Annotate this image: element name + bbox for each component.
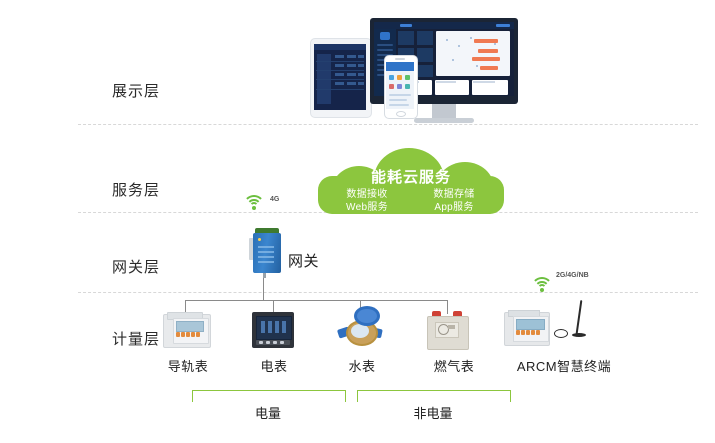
wifi-icon — [531, 277, 553, 293]
map-tag — [472, 57, 500, 61]
sidebar-logo — [380, 32, 390, 40]
tablet-cell — [347, 82, 356, 85]
terminal-network-label: 2G/4G/NB — [556, 272, 589, 279]
meter-button-row — [256, 340, 290, 345]
layer-label-metering: 计量层 — [112, 328, 160, 349]
gateway-led — [258, 238, 261, 241]
gateway-network-label: 4G — [270, 196, 279, 203]
map-tag — [480, 66, 498, 70]
cloud-service-label-1: 数据接收 — [332, 188, 402, 201]
din-rail-meter-caption: 导轨表 — [160, 356, 216, 375]
stat-card — [417, 65, 433, 77]
antenna-rod — [576, 300, 582, 334]
phone-app-icon — [397, 84, 402, 89]
tablet-screen — [314, 44, 366, 110]
cloud-title: 能耗云服务 — [318, 166, 504, 187]
map-tag — [474, 39, 498, 43]
cloud-service-label-4: App服务 — [418, 201, 490, 214]
phone-app-icon — [397, 75, 402, 80]
phone-list-row — [389, 104, 409, 106]
layer-label-service: 服务层 — [112, 179, 160, 200]
tablet-cell — [347, 55, 356, 58]
phone-speaker — [395, 58, 405, 60]
terminal-lcd — [516, 319, 545, 330]
meter-register — [448, 325, 455, 329]
tablet-cell — [358, 55, 364, 58]
monitor-stand-neck — [432, 104, 456, 118]
antenna-cable — [554, 329, 568, 338]
gateway-body — [253, 233, 281, 273]
topbar-chip — [400, 24, 412, 27]
stat-card — [417, 31, 433, 45]
non-electric-group-label: 非电量 — [357, 403, 509, 422]
electric-group-bracket — [192, 390, 346, 402]
architecture-diagram: 展示层 服务层 网关层 计量层 — [0, 0, 715, 443]
meter-display — [256, 316, 292, 340]
panel-list — [472, 80, 508, 95]
connector-drop-gas — [447, 300, 448, 314]
panel-gauge — [435, 80, 469, 95]
stat-card — [417, 48, 433, 62]
gas-meter-caption: 燃气表 — [428, 356, 480, 375]
map-tag — [478, 49, 498, 53]
tablet-cell — [335, 55, 344, 58]
phone-home-button — [396, 111, 406, 117]
antenna-base — [572, 333, 586, 337]
phone-list-row — [389, 94, 411, 96]
electric-group-label: 电量 — [192, 403, 344, 422]
connector-bus — [185, 300, 447, 301]
stat-card — [398, 31, 414, 45]
gateway-caption: 网关 — [288, 250, 319, 271]
phone-app-header — [386, 62, 414, 71]
water-meter-caption: 水表 — [343, 356, 381, 375]
terminal-buttons — [516, 330, 543, 335]
tablet-cell — [335, 73, 344, 76]
phone-app-icon — [389, 75, 394, 80]
tablet-cell — [347, 73, 356, 76]
sidebar-row — [377, 49, 393, 51]
arcm-terminal-caption: ARCM智慧终端 — [509, 356, 619, 375]
tablet-cell — [335, 82, 344, 85]
meter-lid-inner — [357, 309, 377, 323]
tablet-cell — [347, 64, 356, 67]
tablet-row-line — [316, 89, 364, 90]
tablet-cell — [358, 82, 364, 85]
monitor-stand-base — [414, 118, 474, 123]
meter-buttons — [176, 332, 202, 337]
tablet-row-line — [316, 70, 364, 71]
tablet-row-line — [316, 61, 364, 62]
layer-label-gateway: 网关层 — [112, 256, 160, 277]
dashboard-topbar — [374, 22, 514, 29]
meter-dial-face — [351, 324, 369, 338]
topbar-chip — [496, 24, 510, 27]
divider-gateway-metering — [78, 292, 698, 293]
phone-app-icon — [389, 84, 394, 89]
divider-presentation-service — [78, 124, 698, 125]
tablet-row-line — [316, 79, 364, 80]
layer-label-presentation: 展示层 — [112, 80, 160, 101]
non-electric-group-bracket — [357, 390, 511, 402]
panel-meter-caption: 电表 — [255, 356, 293, 375]
phone-app-icon — [405, 75, 410, 80]
tablet-screen-header — [314, 44, 366, 50]
phone-list-row — [389, 99, 407, 101]
phone-app-icon — [405, 84, 410, 89]
wifi-icon — [243, 195, 265, 211]
cloud-service-label-3: Web服务 — [332, 201, 402, 214]
dashboard-map — [436, 31, 510, 76]
sidebar-row — [377, 44, 393, 46]
tablet-cell — [335, 64, 344, 67]
tablet-cell — [358, 64, 364, 67]
meter-lcd — [176, 321, 204, 332]
connector-gateway-down — [263, 278, 264, 300]
tablet-cell — [358, 73, 364, 76]
cloud-service-label-2: 数据存储 — [418, 188, 490, 201]
phone-screen — [386, 62, 414, 109]
